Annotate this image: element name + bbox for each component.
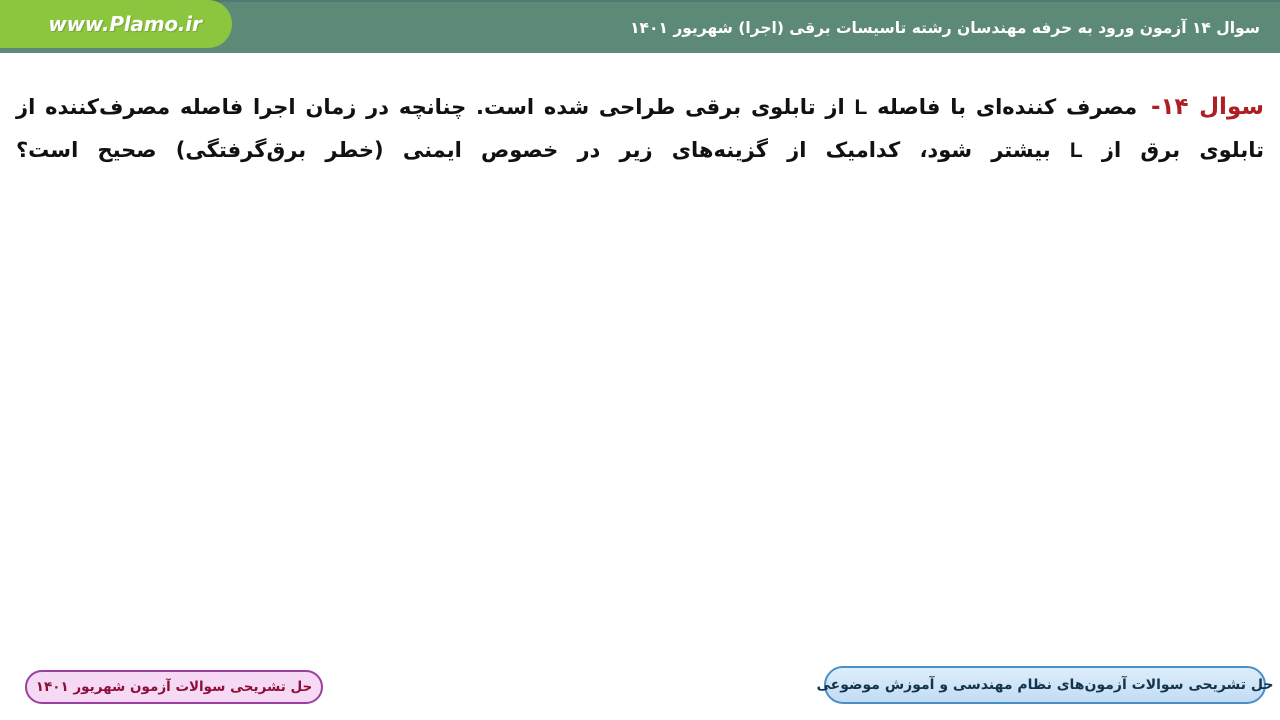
exam-solutions-shahrivar-button[interactable]: حل تشریحی سوالات آزمون شهریور ۱۴۰۱	[25, 670, 323, 704]
slide-content-area: سوال ۱۴- مصرف کننده‌ای با فاصله L از تاب…	[0, 53, 1280, 720]
all-exam-solutions-button[interactable]: حل تشریحی سوالات آزمون‌های نظام مهندسی و…	[824, 666, 1266, 704]
question-number-label: سوال ۱۴-	[1151, 94, 1264, 120]
slide-header-title: سوال ۱۴ آزمون ورود به حرفه مهندسان رشته …	[630, 2, 1260, 55]
site-url-label: www.Plamo.ir	[30, 12, 201, 36]
question-text-part-3: بیشتر شود، کدامیک از گزینه‌های زیر در خص…	[16, 138, 1070, 162]
all-exam-solutions-label: حل تشریحی سوالات آزمون‌های نظام مهندسی و…	[816, 677, 1273, 693]
distance-variable-2: L	[1070, 131, 1083, 172]
exam-solutions-shahrivar-label: حل تشریحی سوالات آزمون شهریور ۱۴۰۱	[36, 679, 313, 695]
question-paragraph: سوال ۱۴- مصرف کننده‌ای با فاصله L از تاب…	[16, 85, 1264, 172]
question-text-part-1: مصرف کننده‌ای با فاصله	[867, 95, 1147, 119]
distance-variable-1: L	[855, 88, 868, 129]
site-logo-badge[interactable]: www.Plamo.ir	[0, 0, 232, 48]
